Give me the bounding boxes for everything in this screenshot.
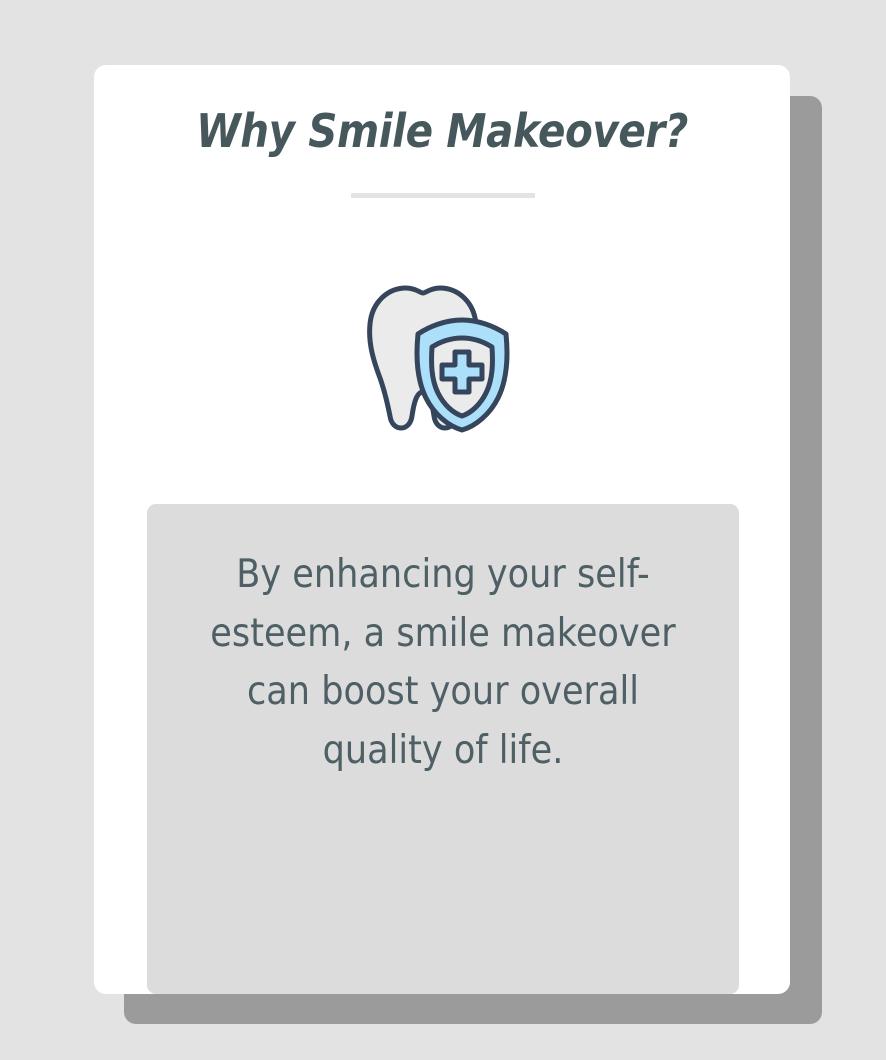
title-divider	[351, 193, 535, 198]
tooth-shield-icon	[360, 278, 524, 433]
quote-text: By enhancing your self-esteem, a smile m…	[200, 546, 686, 780]
info-card: Why Smile Makeover? By enhancing your se…	[94, 65, 790, 994]
quote-panel: By enhancing your self-esteem, a smile m…	[147, 504, 739, 994]
slide-canvas: Why Smile Makeover? By enhancing your se…	[0, 0, 886, 1060]
page-title: Why Smile Makeover?	[136, 106, 748, 157]
